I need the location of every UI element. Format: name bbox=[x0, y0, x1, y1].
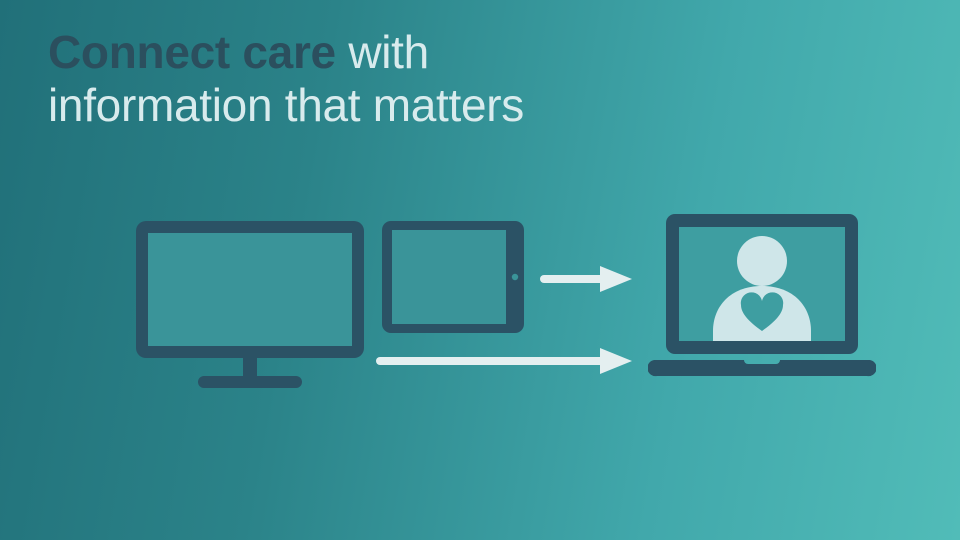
monitor-screen bbox=[148, 233, 352, 346]
headline-line-2: information that matters bbox=[48, 79, 748, 132]
slide-canvas: Connect care with information that matte… bbox=[0, 0, 960, 540]
arrow-shaft bbox=[376, 357, 606, 365]
headline-line-1-light-text: with bbox=[336, 26, 429, 78]
arrow-head bbox=[600, 266, 632, 292]
arrow-shaft bbox=[540, 275, 606, 283]
arrow-head bbox=[600, 348, 632, 374]
monitor-base bbox=[198, 376, 302, 388]
laptop-base bbox=[648, 360, 876, 376]
headline-strong-text: Connect care bbox=[48, 26, 336, 78]
headline-line-1: Connect care with bbox=[48, 26, 748, 79]
desktop-monitor-icon bbox=[136, 221, 364, 389]
arrow-tablet-to-laptop-icon bbox=[540, 262, 632, 296]
page-title: Connect care with information that matte… bbox=[48, 26, 748, 132]
laptop-icon bbox=[648, 214, 876, 386]
tablet-icon bbox=[382, 221, 524, 333]
arrow-monitor-to-laptop-icon bbox=[376, 344, 632, 378]
tablet-screen bbox=[392, 230, 506, 324]
tablet-home-button bbox=[512, 274, 518, 280]
person-head bbox=[737, 236, 787, 286]
